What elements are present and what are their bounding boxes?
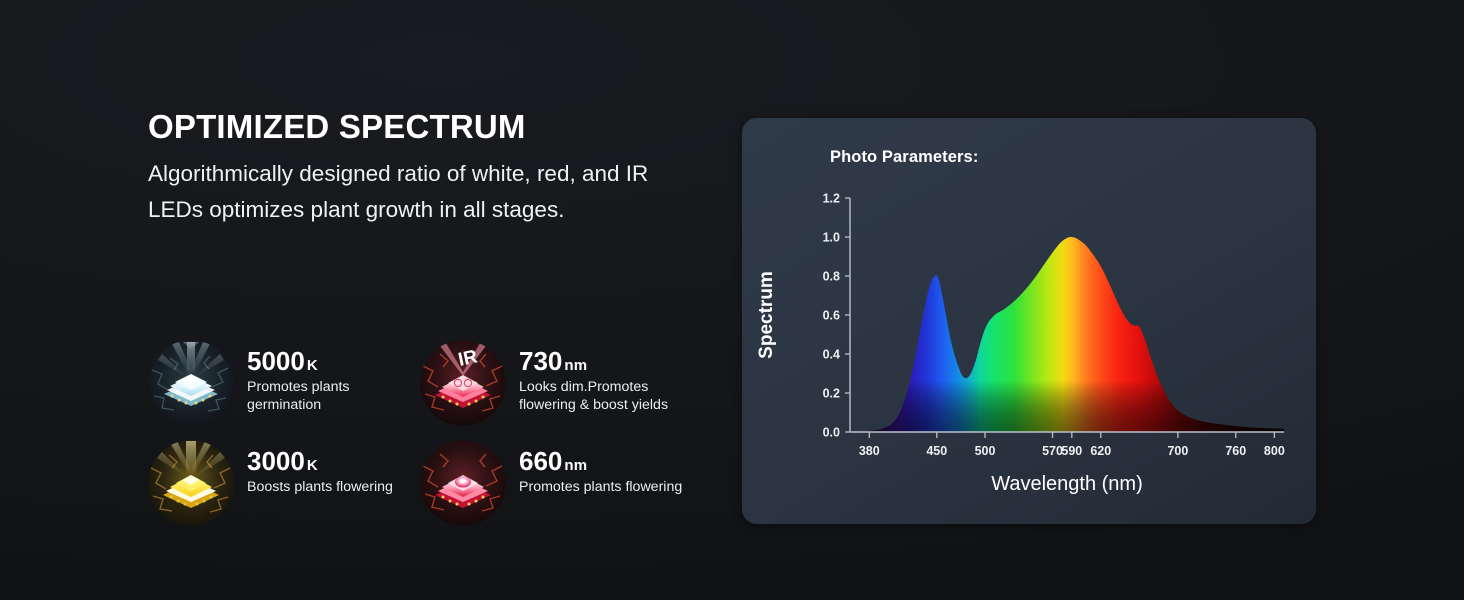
- feature-unit: K: [307, 457, 318, 474]
- led-chip-ir-icon: IR: [420, 340, 506, 426]
- feature-description: Promotes plants germination: [247, 379, 420, 414]
- promo-banner: OPTIMIZED SPECTRUM Algorithmically desig…: [0, 0, 1464, 600]
- feature-text: 660nm Promotes plants flowering: [519, 440, 682, 497]
- feature-value: 3000K: [247, 448, 393, 474]
- copy-block: OPTIMIZED SPECTRUM Algorithmically desig…: [148, 108, 708, 229]
- svg-text:Spectrum: Spectrum: [756, 271, 777, 359]
- led-chip-warm-icon: [148, 440, 234, 526]
- svg-text:0.0: 0.0: [823, 426, 840, 440]
- feature-text: 3000K Boosts plants flowering: [247, 440, 393, 497]
- feature-item-660nm: 660nm Promotes plants flowering: [420, 440, 692, 540]
- svg-text:1.2: 1.2: [823, 192, 840, 206]
- svg-text:590: 590: [1061, 444, 1082, 458]
- svg-text:500: 500: [975, 444, 996, 458]
- feature-number: 3000: [247, 446, 305, 476]
- svg-text:1.0: 1.0: [823, 231, 840, 245]
- svg-text:570: 570: [1042, 444, 1063, 458]
- svg-text:0.4: 0.4: [823, 348, 840, 362]
- svg-text:800: 800: [1264, 444, 1285, 458]
- feature-number: 730: [519, 346, 562, 376]
- feature-unit: K: [307, 357, 318, 374]
- svg-text:450: 450: [926, 444, 947, 458]
- page-title: OPTIMIZED SPECTRUM: [148, 108, 708, 146]
- feature-text: 5000K Promotes plants germination: [247, 340, 420, 414]
- feature-value: 660nm: [519, 448, 682, 474]
- spectrum-chart: 0.00.20.40.60.81.01.23804505005705906207…: [742, 176, 1316, 524]
- feature-value: 730nm: [519, 348, 692, 374]
- svg-text:700: 700: [1167, 444, 1188, 458]
- feature-description: Promotes plants flowering: [519, 479, 682, 497]
- feature-value: 5000K: [247, 348, 420, 374]
- svg-text:0.6: 0.6: [823, 309, 840, 323]
- feature-unit: nm: [564, 357, 587, 374]
- svg-text:760: 760: [1225, 444, 1246, 458]
- feature-number: 5000: [247, 346, 305, 376]
- led-chip-white-icon: [148, 340, 234, 426]
- svg-text:380: 380: [859, 444, 880, 458]
- led-chip-red-icon: [420, 440, 506, 526]
- feature-unit: nm: [564, 457, 587, 474]
- feature-item-3000k: 3000K Boosts plants flowering: [148, 440, 420, 540]
- svg-text:Wavelength (nm): Wavelength (nm): [991, 473, 1143, 495]
- feature-description: Looks dim.Promotes flowering & boost yie…: [519, 379, 692, 414]
- feature-text: 730nm Looks dim.Promotes flowering & boo…: [519, 340, 692, 414]
- svg-text:0.8: 0.8: [823, 270, 840, 284]
- feature-description: Boosts plants flowering: [247, 479, 393, 497]
- svg-text:0.2: 0.2: [823, 387, 840, 401]
- feature-item-5000k: 5000K Promotes plants germination: [148, 340, 420, 440]
- chart-title: Photo Parameters:: [830, 148, 978, 167]
- feature-item-730nm: IR: [420, 340, 692, 440]
- spectrum-chart-panel: Photo Parameters: 0.00.20.40.60.81.01.23…: [742, 118, 1316, 524]
- svg-text:620: 620: [1090, 444, 1111, 458]
- feature-grid: 5000K Promotes plants germination: [148, 340, 718, 540]
- page-subtitle: Algorithmically designed ratio of white,…: [148, 156, 708, 229]
- feature-number: 660: [519, 446, 562, 476]
